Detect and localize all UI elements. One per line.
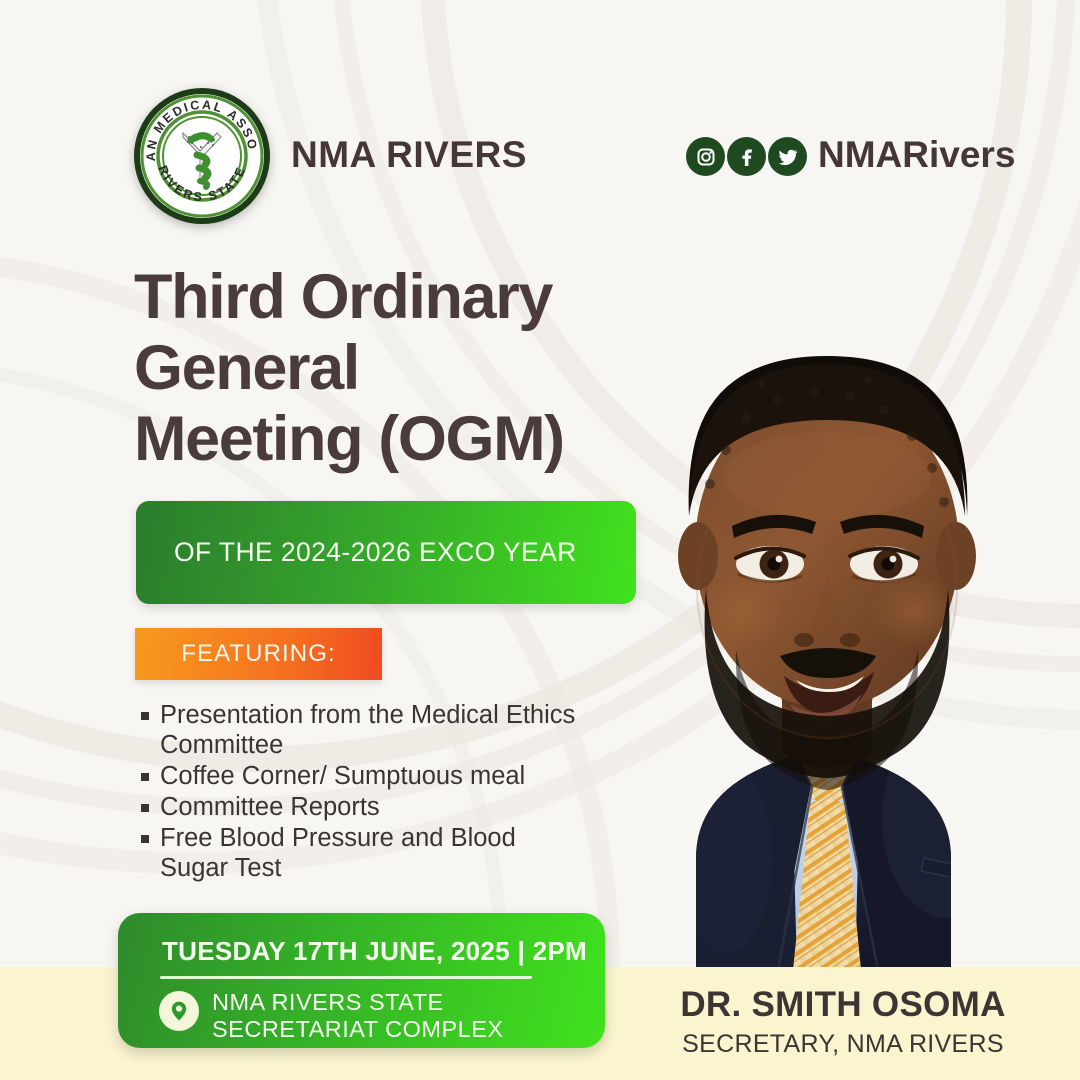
instagram-icon[interactable] xyxy=(686,137,725,176)
speaker-name: DR. SMITH OSOMA xyxy=(606,985,1080,1025)
exco-year-text: OF THE 2024-2026 EXCO YEAR xyxy=(136,537,577,568)
list-item: Free Blood Pressure and Blood Sugar Test xyxy=(141,823,581,883)
bullet-square-icon xyxy=(141,804,149,812)
bullet-square-icon xyxy=(141,773,149,781)
social-icons-group xyxy=(686,137,809,176)
list-item: Presentation from the Medical Ethics Com… xyxy=(141,700,581,760)
list-item-label: Free Blood Pressure and Blood Sugar Test xyxy=(160,823,581,883)
venue-line-1: NMA RIVERS STATE xyxy=(212,989,444,1015)
list-item: Coffee Corner/ Sumptuous meal xyxy=(141,761,581,791)
list-item: Committee Reports xyxy=(141,792,581,822)
featuring-badge-label: FEATURING: xyxy=(181,640,336,668)
speaker-role: SECRETARY, NMA RIVERS xyxy=(606,1030,1080,1059)
title-line-2: General xyxy=(134,333,734,404)
nma-rivers-logo: NIGERIAN MEDICAL ASSOCIATION RIVERS STAT… xyxy=(131,85,273,227)
page-title: Third Ordinary General Meeting (OGM) xyxy=(134,262,734,475)
list-item-label: Presentation from the Medical Ethics Com… xyxy=(160,700,581,760)
list-item-label: Coffee Corner/ Sumptuous meal xyxy=(160,761,525,791)
poster-header: NIGERIAN MEDICAL ASSOCIATION RIVERS STAT… xyxy=(0,0,1080,240)
event-venue: NMA RIVERS STATE SECRETARIAT COMPLEX xyxy=(159,989,504,1042)
featuring-list: Presentation from the Medical Ethics Com… xyxy=(141,700,581,884)
facebook-icon[interactable] xyxy=(727,137,766,176)
event-details-panel: TUESDAY 17TH JUNE, 2025 | 2PM NMA RIVERS… xyxy=(118,913,605,1048)
panel-divider xyxy=(160,976,532,979)
exco-year-banner: OF THE 2024-2026 EXCO YEAR xyxy=(136,501,636,604)
brand-name: NMA RIVERS xyxy=(291,134,527,176)
social-handle: NMARivers xyxy=(818,134,1015,176)
featuring-badge: FEATURING: xyxy=(135,628,382,680)
title-line-3: Meeting (OGM) xyxy=(134,404,734,475)
poster-canvas: NIGERIAN MEDICAL ASSOCIATION RIVERS STAT… xyxy=(0,0,1080,1080)
bullet-square-icon xyxy=(141,712,149,720)
location-pin-icon xyxy=(159,991,199,1031)
list-item-label: Committee Reports xyxy=(160,792,380,822)
twitter-icon[interactable] xyxy=(768,137,807,176)
event-datetime: TUESDAY 17TH JUNE, 2025 | 2PM xyxy=(162,936,587,967)
event-venue-text: NMA RIVERS STATE SECRETARIAT COMPLEX xyxy=(212,989,504,1042)
title-line-1: Third Ordinary xyxy=(134,262,734,333)
bullet-square-icon xyxy=(141,835,149,843)
venue-line-2: SECRETARIAT COMPLEX xyxy=(212,1016,504,1042)
